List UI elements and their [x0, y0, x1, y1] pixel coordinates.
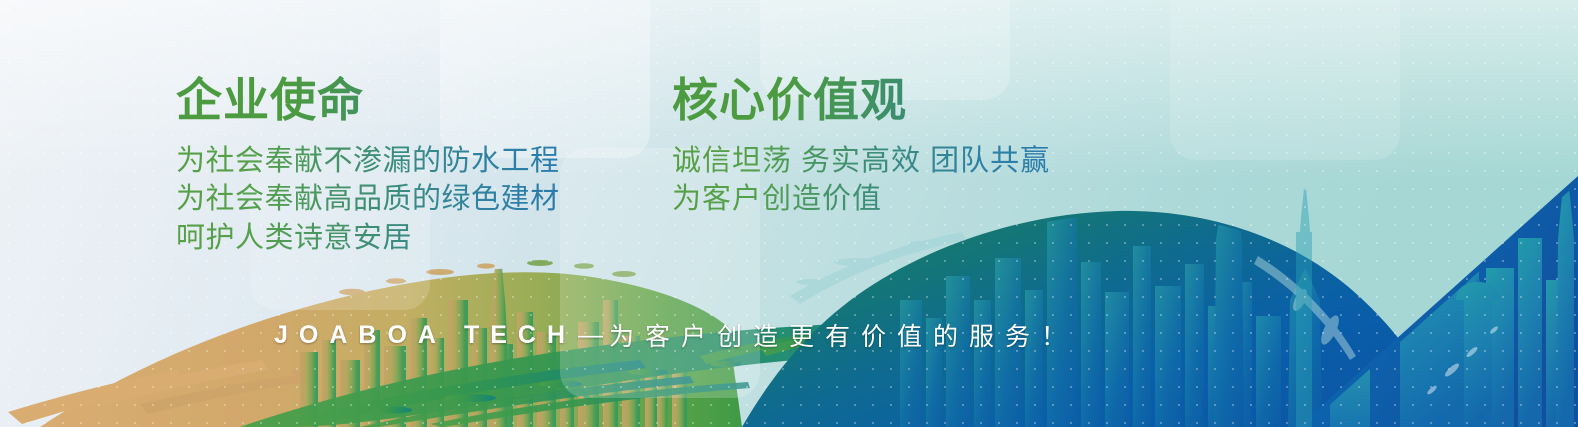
values-block: 核心价值观 诚信坦荡 务实高效 团队共赢 为客户创造价值 [672, 76, 1050, 219]
teal-tower [1296, 232, 1312, 427]
mission-block: 企业使命 为社会奉献不渗漏的防水工程 为社会奉献高品质的绿色建材 呵护人类诗意安… [176, 76, 560, 257]
mission-line-1: 为社会奉献不渗漏的防水工程 [176, 142, 560, 181]
brand-name: JOABOA TECH [274, 321, 576, 350]
corporate-culture-banner: 企业使命 为社会奉献不渗漏的防水工程 为社会奉献高品质的绿色建材 呵护人类诗意安… [0, 0, 1578, 427]
tagline-dash: — [578, 321, 603, 350]
values-line-1: 诚信坦荡 务实高效 团队共赢 [672, 142, 1050, 181]
tagline-slogan: 为客户创造更有价值的服务！ [609, 317, 1077, 353]
mission-line-3: 呵护人类诗意安居 [176, 219, 560, 258]
values-heading: 核心价值观 [672, 76, 1050, 126]
values-line-2: 为客户创造价值 [672, 180, 1050, 219]
mission-line-2: 为社会奉献高品质的绿色建材 [176, 180, 560, 219]
mission-heading: 企业使命 [176, 76, 560, 126]
bottom-tagline: JOABOA TECH — 为客户创造更有价值的服务！ [274, 317, 1077, 353]
